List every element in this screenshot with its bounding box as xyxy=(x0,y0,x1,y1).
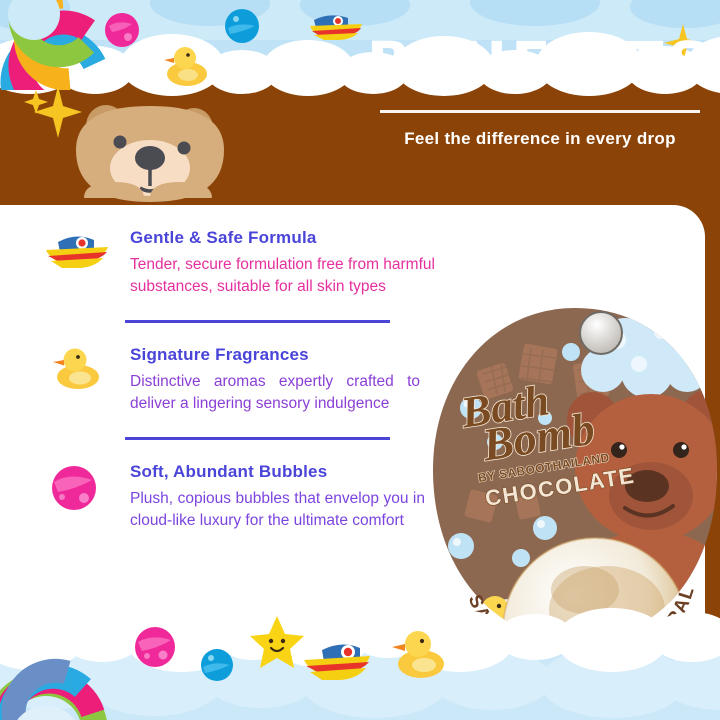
header: BENEFITS Feel the difference in every dr… xyxy=(360,34,720,149)
benefit-item-soft-abundant-bubbles: Soft, Abundant Bubbles Plush, copious bu… xyxy=(40,462,470,532)
rubber-duck-icon xyxy=(160,40,212,88)
star-icon xyxy=(248,614,306,670)
poster-canvas: BENEFITS Feel the difference in every dr… xyxy=(0,0,720,720)
benefit-body: Distinctive aromas expertly crafted to d… xyxy=(130,371,420,415)
title-divider xyxy=(380,110,700,113)
benefit-title: Signature Fragrances xyxy=(130,345,470,365)
benefit-title: Gentle & Safe Formula xyxy=(130,228,470,248)
pink-bath-bomb-icon xyxy=(104,12,140,48)
pink-bath-bomb-icon xyxy=(134,626,176,668)
blue-bath-bomb-icon xyxy=(200,648,234,682)
toy-boat-icon xyxy=(308,10,366,48)
rainbow-ring-icon xyxy=(0,0,112,90)
rubber-duck-icon xyxy=(40,341,112,393)
benefit-title: Soft, Abundant Bubbles xyxy=(130,462,470,482)
benefits-list: Gentle & Safe Formula Tender, secure for… xyxy=(40,228,470,532)
rainbow-ring-icon xyxy=(0,632,118,720)
rubber-duck-icon xyxy=(388,624,450,680)
benefit-body: Plush, copious bubbles that envelop you … xyxy=(130,488,425,532)
pink-bath-bomb-icon xyxy=(40,462,112,514)
benefit-body: Tender, secure formulation free from har… xyxy=(130,254,470,298)
blue-bath-bomb-icon xyxy=(224,8,260,44)
toy-boat-icon xyxy=(300,638,372,684)
page-title: BENEFITS xyxy=(360,34,720,92)
toy-boat-icon xyxy=(40,230,112,282)
benefit-divider xyxy=(125,320,390,323)
page-subtitle: Feel the difference in every drop xyxy=(360,129,720,149)
bear-mascot-icon xyxy=(62,98,242,213)
benefit-item-signature-fragrances: Signature Fragrances Distinctive aromas … xyxy=(40,345,470,415)
benefit-divider xyxy=(125,437,390,440)
benefit-item-gentle-safe-formula: Gentle & Safe Formula Tender, secure for… xyxy=(40,228,470,298)
